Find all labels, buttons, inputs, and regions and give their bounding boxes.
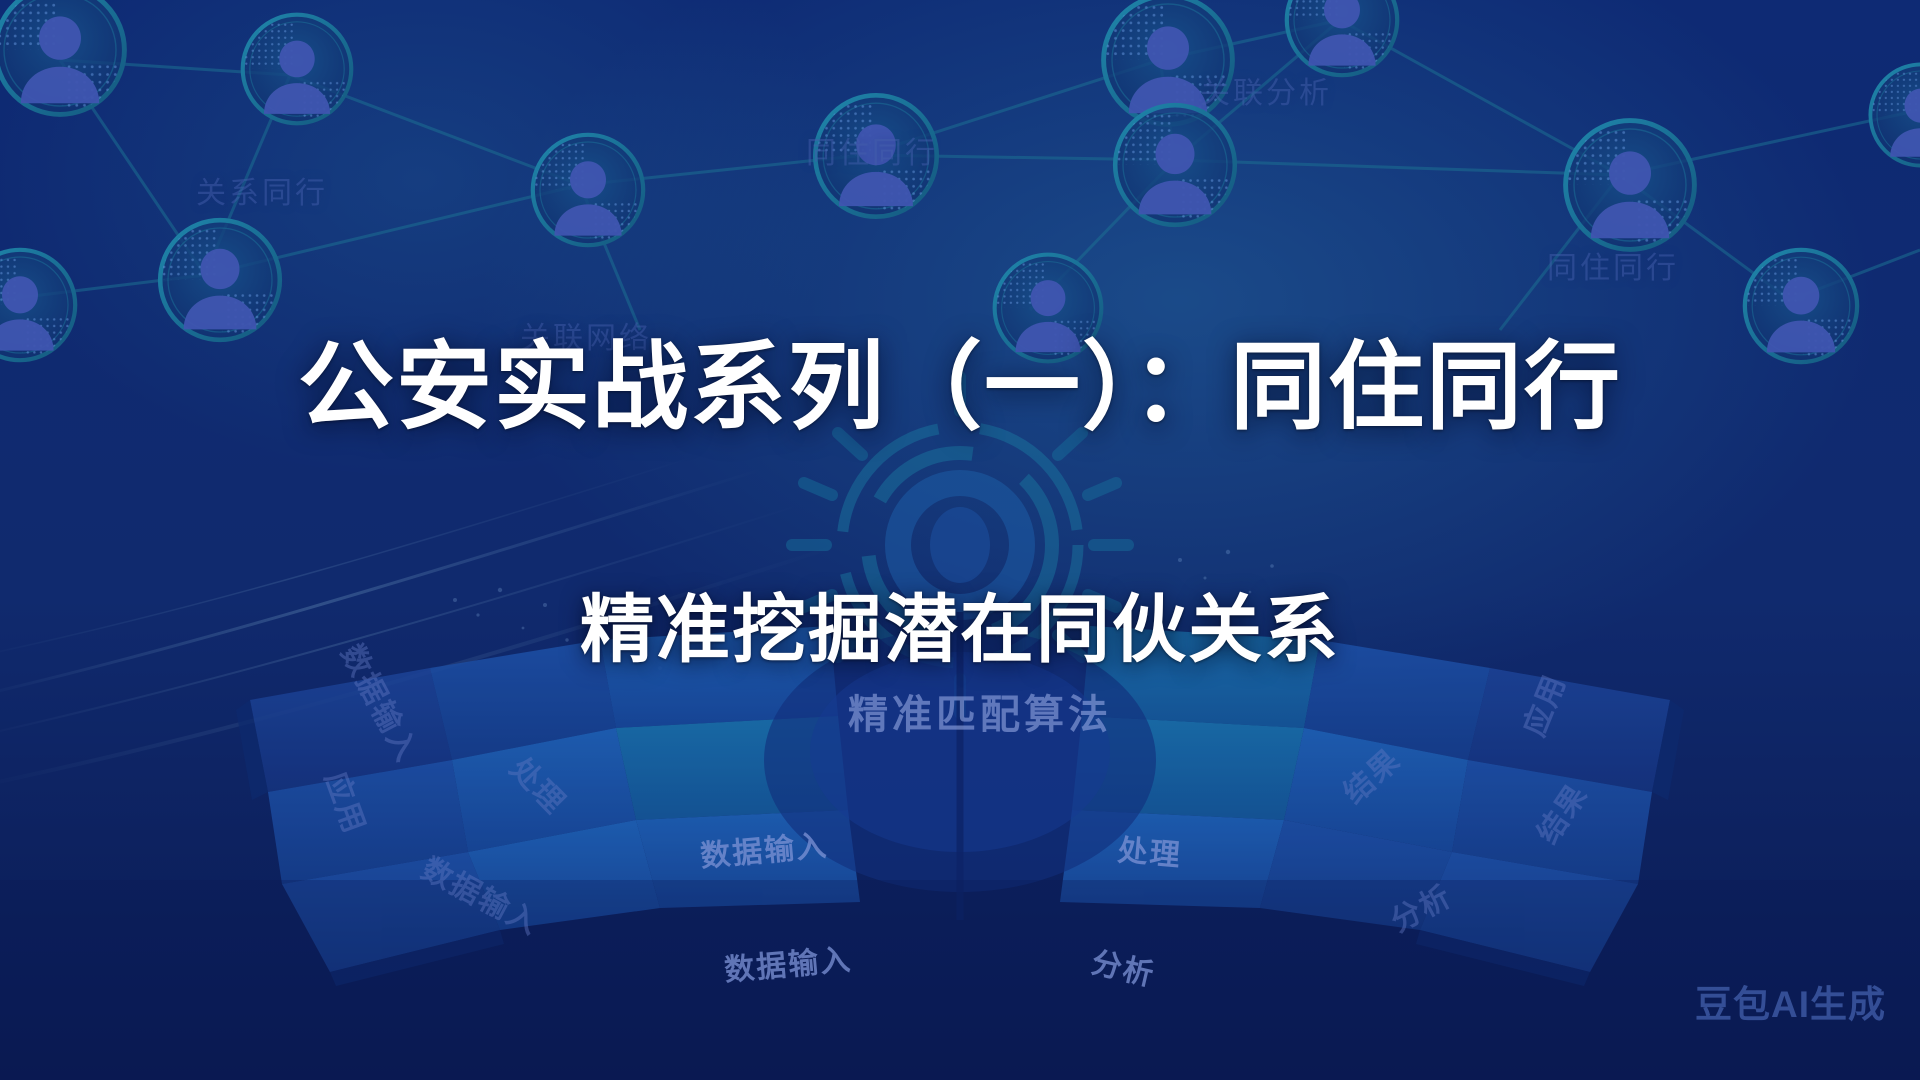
diagram-segment-label-4: 处理 [1116, 825, 1184, 874]
diagram-label-layer: 精准匹配算法 数据输入 数据输入 数据输入 数据输入 处理 处理 分析 分析 结… [0, 0, 1920, 1080]
diagram-segment-label-5: 处理 [502, 746, 578, 823]
diagram-segment-label-1: 数据输入 [722, 935, 853, 990]
diagram-segment-label-3: 数据输入 [333, 635, 432, 769]
slide-canvas: 关系同行 同住同行 关联分析 关联网络 同住同行 精准匹配算法 数据输入 数据输… [0, 0, 1920, 1080]
diagram-segment-label-10: 应用 [316, 764, 379, 839]
ai-generated-watermark: 豆包AI生成 [1695, 974, 1886, 1028]
diagram-segment-label-2: 数据输入 [415, 845, 549, 944]
diagram-segment-label-8: 结果 [1331, 736, 1408, 812]
diagram-segment-label-7: 分析 [1381, 872, 1458, 941]
diagram-segment-label-6: 分析 [1088, 937, 1160, 994]
diagram-segment-label-0: 数据输入 [698, 821, 829, 876]
diagram-center-label: 精准匹配算法 [848, 682, 1112, 740]
diagram-segment-label-11: 应用 [1510, 666, 1575, 742]
diagram-segment-label-9: 结果 [1524, 773, 1596, 851]
